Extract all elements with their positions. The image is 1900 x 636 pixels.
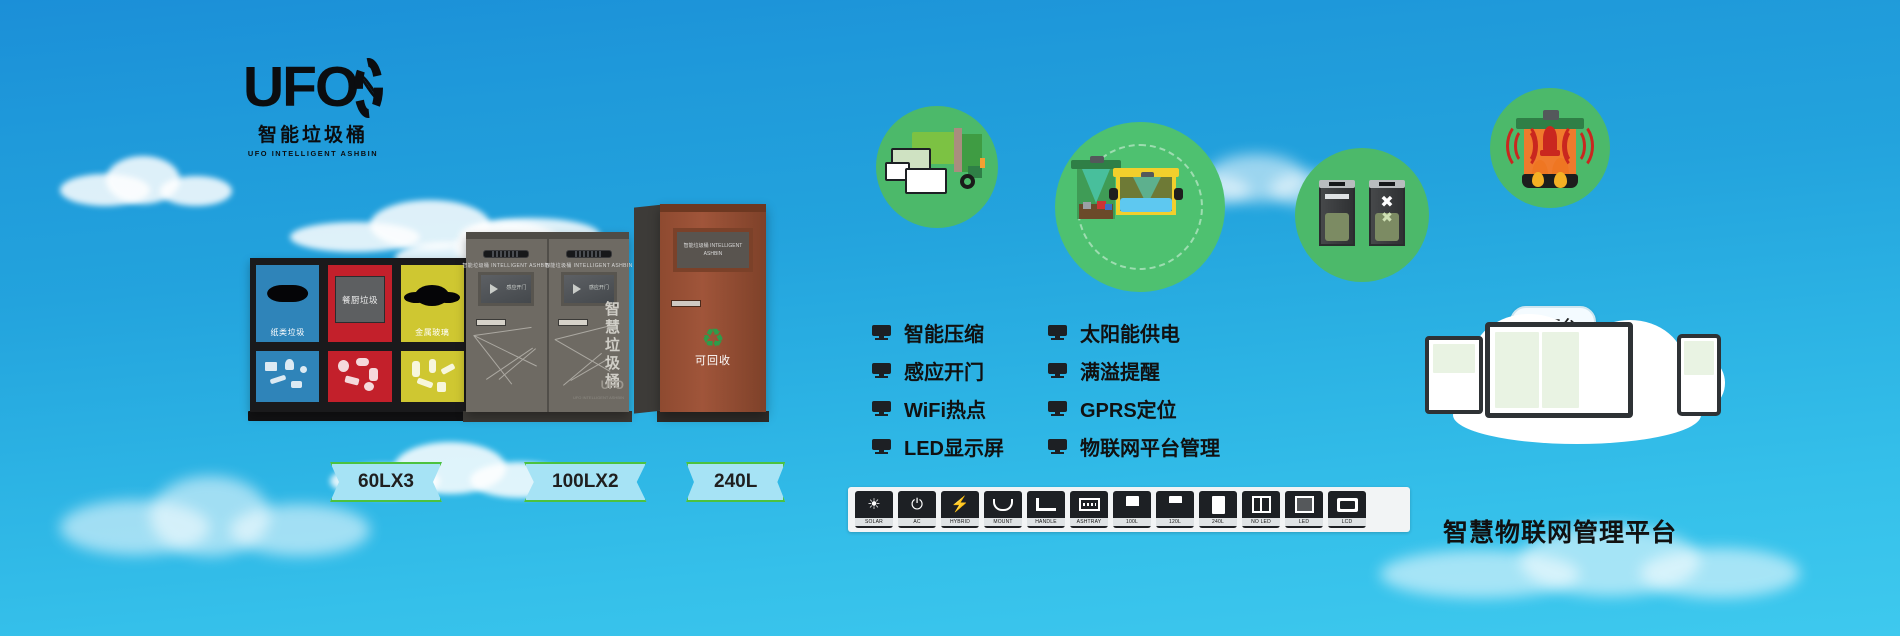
desktop-monitor-icon (1485, 322, 1633, 418)
monitor-icon (872, 401, 891, 416)
bin-120l-icon (1156, 491, 1194, 518)
bin-cell-kitchen: 餐厨垃圾 (325, 262, 394, 405)
feature-item: WiFi热点 (872, 394, 1004, 423)
monitor-icon (872, 439, 891, 454)
recycle-label: 可回收 (695, 352, 731, 368)
monitor-icon (872, 363, 891, 378)
feature-label: 太阳能供电 (1080, 318, 1180, 347)
wall-mount-icon (984, 491, 1022, 518)
feature-label: 感应开门 (904, 356, 984, 385)
circle-fill-level-sensing (1055, 122, 1225, 292)
option-120l[interactable]: 120L (1156, 491, 1194, 528)
option-led[interactable]: LED (1285, 491, 1323, 528)
iot-platform-illustration (1425, 300, 1725, 475)
bin-cell-metal-glass: 金属玻璃 (398, 262, 467, 405)
feature-item: 满溢提醒 (1048, 356, 1220, 385)
phone-icon (1677, 334, 1721, 416)
web-pattern (466, 239, 547, 412)
ring-icon (354, 58, 383, 118)
capacity-tag-240l: 240L (686, 462, 785, 502)
feature-label: WiFi热点 (904, 394, 986, 423)
option-100l[interactable]: 100L (1113, 491, 1151, 528)
feature-item: 物联网平台管理 (1048, 432, 1220, 461)
plug-icon: ⏻ (898, 491, 936, 518)
monitor-icon (872, 325, 891, 340)
bin-cell-screen-text: 餐厨垃圾 (342, 294, 378, 306)
option-caption: 100L (1113, 518, 1151, 526)
option-caption: HYBRID (941, 518, 979, 526)
monitor-icon (1048, 325, 1067, 340)
recycle-badge: ♻ 可回收 (695, 327, 731, 368)
monitor-icon (1048, 439, 1067, 454)
feature-item: GPRS定位 (1048, 394, 1220, 423)
option-solar[interactable]: ☀ SOLAR (855, 491, 893, 528)
option-caption: NO LED (1242, 518, 1280, 526)
capacity-tag-60l: 60LX3 (330, 462, 442, 502)
litter-graphic (256, 351, 319, 402)
logo-chinese-name: 智能垃圾桶 (243, 120, 383, 147)
compactor-bin-icon: ✖ ✖ (1369, 184, 1405, 246)
lcd-icon (1328, 491, 1366, 518)
feature-label: 物联网平台管理 (1080, 432, 1220, 461)
sun-icon: ☀ (855, 491, 893, 518)
feature-column-right: 太阳能供电 满溢提醒 GPRS定位 物联网平台管理 (1048, 318, 1220, 461)
feature-label: LED显示屏 (904, 432, 1004, 461)
platform-title: 智慧物联网管理平台 (1443, 513, 1677, 549)
fill-sensor-cutaway-icon (1115, 168, 1177, 216)
option-lcd[interactable]: LCD (1328, 491, 1366, 528)
logo-english-name: UFO INTELLIGENT ASHBIN (243, 149, 383, 158)
sensor-window: 智能垃圾桶 INTELLIGENT ASHBIN (673, 228, 754, 272)
bin-cell-screen: 餐厨垃圾 (335, 276, 384, 324)
feature-label: 满溢提醒 (1080, 356, 1160, 385)
three-color-bin-bank: 纸类垃圾 餐厨垃圾 (250, 258, 470, 412)
option-caption: LCD (1328, 518, 1366, 526)
option-caption: MOUNT (984, 518, 1022, 526)
option-hybrid[interactable]: ⚡ HYBRID (941, 491, 979, 528)
bin-cell-paper: 纸类垃圾 (253, 262, 322, 405)
logo-wordmark: UFO (243, 63, 357, 112)
smart-bin-right: 智能垃圾桶 INTELLIGENT ASHBIN 感应开门 智慧垃圾桶 UFO … (549, 239, 630, 412)
feature-item: 太阳能供电 (1048, 318, 1220, 347)
option-ac[interactable]: ⏻ AC (898, 491, 936, 528)
feature-lists: 智能压缩 感应开门 WiFi热点 LED显示屏 太阳能供电 满溢提醒 (872, 318, 1220, 461)
litter-graphic (401, 351, 464, 402)
bin-cell-label: 金属玻璃 (415, 327, 449, 338)
option-240l[interactable]: 240L (1199, 491, 1237, 528)
brand-logo: UFO 智能垃圾桶 UFO INTELLIGENT ASHBIN (243, 58, 383, 158)
feature-item: 感应开门 (872, 356, 1004, 385)
option-handle[interactable]: HANDLE (1027, 491, 1065, 528)
compactor-bin-icon (1319, 184, 1355, 246)
option-caption: 240L (1199, 518, 1237, 526)
dashboard-icon (905, 168, 947, 194)
led-icon (1285, 491, 1323, 518)
option-caption: ASHTRAY (1070, 518, 1108, 526)
garbage-truck-icon (876, 106, 998, 228)
bin-handle (671, 300, 701, 307)
option-caption: HANDLE (1027, 518, 1065, 526)
feature-item: LED显示屏 (872, 432, 1004, 461)
option-caption: 120L (1156, 518, 1194, 526)
bin-240l-icon (1199, 491, 1237, 518)
option-ashtray[interactable]: ASHTRAY (1070, 491, 1108, 528)
option-no-led[interactable]: NO LED (1242, 491, 1280, 528)
option-icon-strip: ☀ SOLAR ⏻ AC ⚡ HYBRID MOUNT HANDLE ASHTR… (848, 487, 1410, 532)
ashtray-icon (1070, 491, 1108, 518)
recycle-icon: ♻ (695, 327, 731, 350)
cloud-decoration (60, 150, 230, 210)
capacity-tag-100l: 100LX2 (524, 462, 647, 502)
feature-label: 智能压缩 (904, 318, 984, 347)
option-caption: SOLAR (855, 518, 893, 526)
circle-auto-compaction: ✖ ✖ (1295, 148, 1429, 282)
recycle-bin: 智能垃圾桶 INTELLIGENT ASHBIN ♻ 可回收 (660, 204, 766, 412)
lightning-icon: ⚡ (941, 491, 979, 518)
circle-fleet-monitoring (876, 106, 998, 228)
option-caption: AC (898, 518, 936, 526)
monitor-icon (1048, 363, 1067, 378)
feature-item: 智能压缩 (872, 318, 1004, 347)
window-text: 智能垃圾桶 INTELLIGENT ASHBIN (677, 242, 750, 259)
feature-label: GPRS定位 (1080, 394, 1177, 423)
litter-graphic (328, 351, 391, 402)
option-caption: LED (1285, 518, 1323, 526)
bin-cell-label: 纸类垃圾 (270, 327, 304, 338)
handle-icon (1027, 491, 1065, 518)
fire-alarm-bin-icon (1516, 110, 1584, 190)
smart-bin-left: 智能垃圾桶 INTELLIGENT ASHBIN 感应开门 (466, 239, 549, 412)
web-pattern (549, 239, 630, 412)
cloud-decoration (60, 470, 360, 560)
no-led-icon (1242, 491, 1280, 518)
banner-stage: UFO 智能垃圾桶 UFO INTELLIGENT ASHBIN 纸类垃圾 (0, 0, 1900, 636)
option-mount[interactable]: MOUNT (984, 491, 1022, 528)
logo-wordmark-row: UFO (243, 58, 383, 118)
smart-bin-pair: 智能垃圾桶 INTELLIGENT ASHBIN 感应开门 智能垃圾桶 INTE… (466, 232, 629, 412)
tablet-icon (1425, 336, 1483, 414)
feature-column-left: 智能压缩 感应开门 WiFi热点 LED显示屏 (872, 318, 1004, 461)
monitor-icon (1048, 401, 1067, 416)
bin-100l-icon (1113, 491, 1151, 518)
circle-fire-alarm (1490, 88, 1610, 208)
